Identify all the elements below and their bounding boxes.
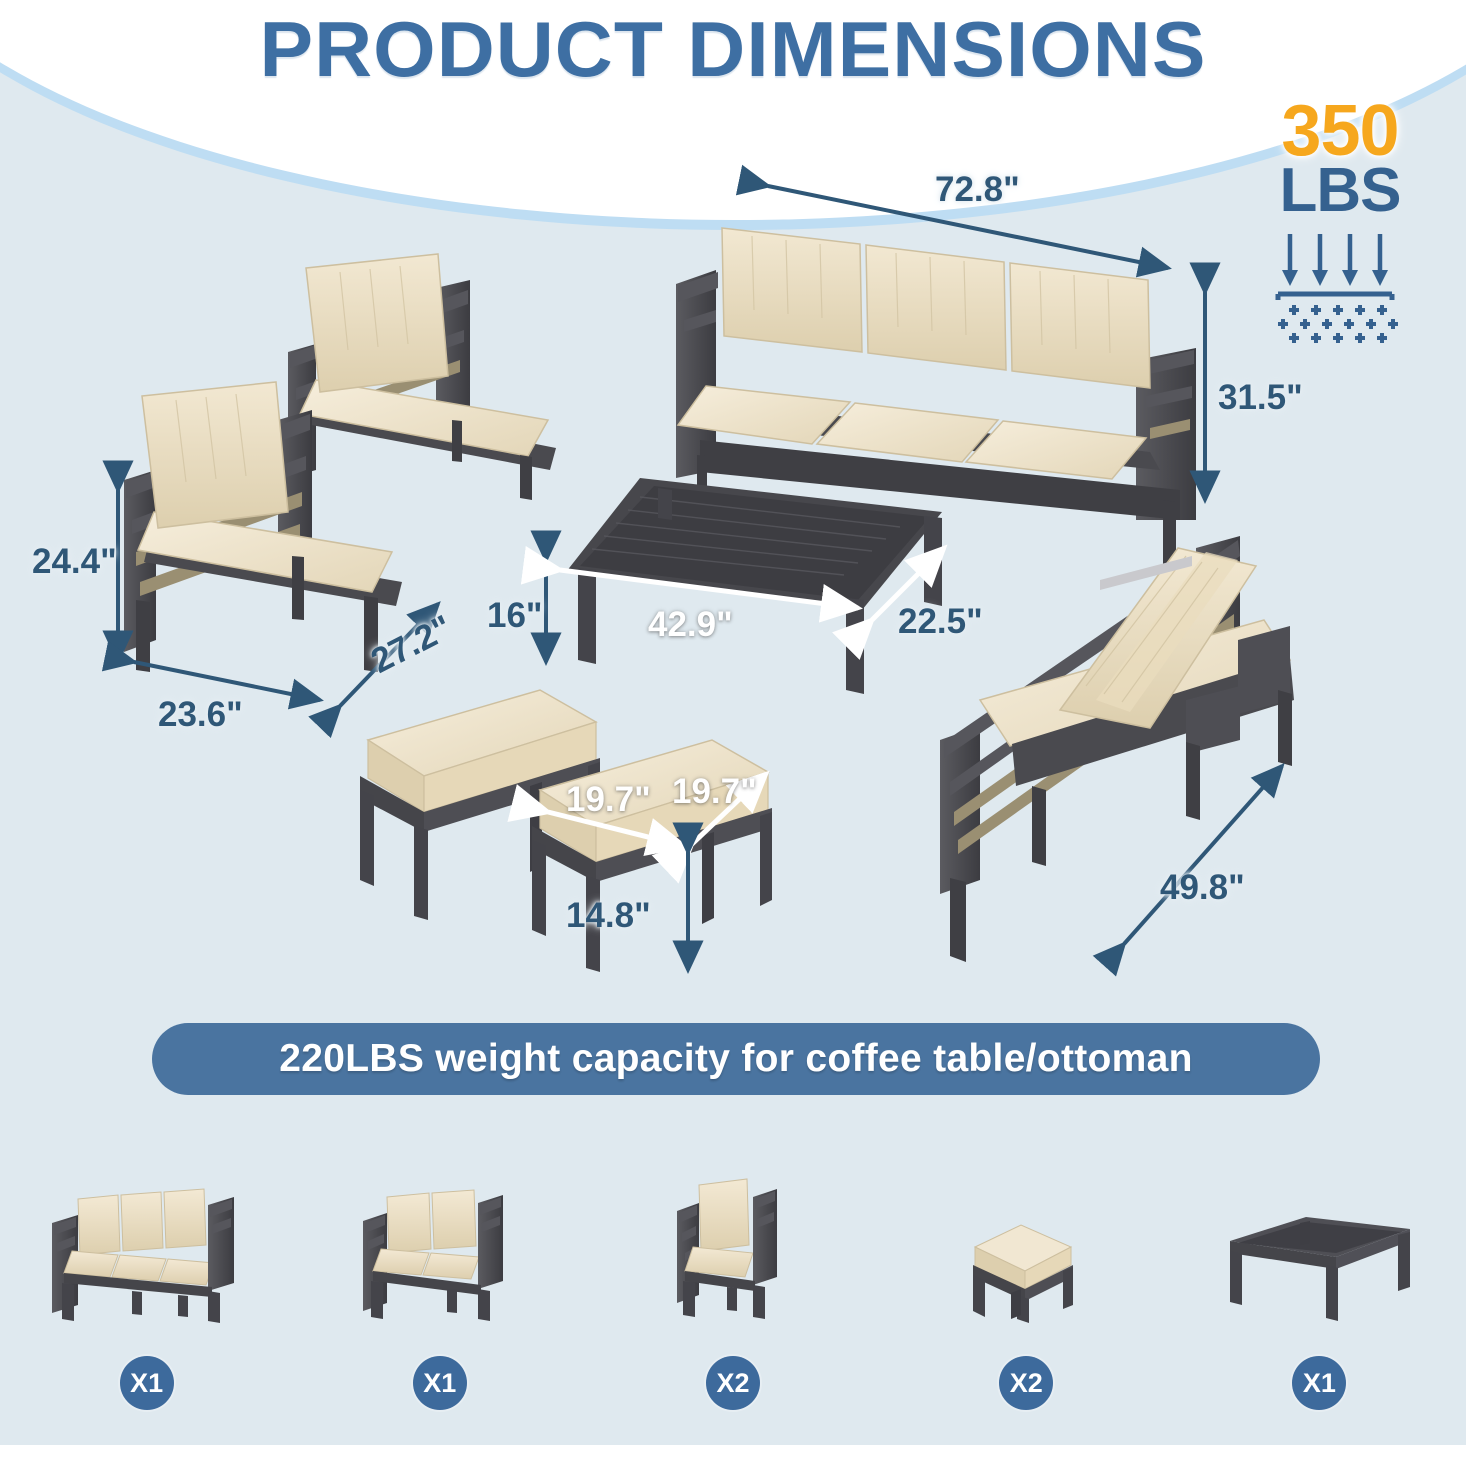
coffee-table-icon (1204, 1150, 1434, 1330)
parts-list-qty-coffee-table: X1 (1292, 1356, 1346, 1410)
dimension-label-loveseat-width: 49.8" (1160, 868, 1245, 908)
parts-list-qty-sofa: X1 (120, 1356, 174, 1410)
product-dimensions-infographic: PRODUCT DIMENSIONS 350 LBS (0, 0, 1466, 1466)
parts-list-item-armchair: X2 (586, 1150, 879, 1450)
dimension-label-table-width: 22.5" (898, 602, 983, 642)
dimension-label-ottoman-height: 14.8" (566, 896, 651, 936)
dimension-label-chair-height: 24.4" (32, 542, 117, 582)
banner-text: 220LBS weight capacity for coffee table/… (279, 1037, 1192, 1081)
dimension-label-sofa-width: 72.8" (935, 170, 1020, 210)
dimension-label-chair-width: 23.6" (158, 695, 243, 735)
parts-list-item-loveseat: X1 (293, 1150, 586, 1450)
parts-list-qty-armchair: X2 (706, 1356, 760, 1410)
dimension-label-table-height: 16" (487, 596, 543, 636)
page-title: PRODUCT DIMENSIONS (0, 4, 1466, 95)
dimension-label-ottoman-width: 19.7" (566, 780, 651, 820)
downward-load-arrows-icon (1245, 228, 1435, 348)
sofa-icon (22, 1150, 272, 1330)
parts-list-item-coffee-table: X1 (1173, 1150, 1466, 1450)
parts-list-item-sofa: X1 (0, 1150, 293, 1450)
parts-list-qty-ottoman: X2 (999, 1356, 1053, 1410)
dimension-label-table-length: 42.9" (648, 605, 733, 645)
parts-list-item-ottoman: X2 (880, 1150, 1173, 1450)
capacity-unit: LBS (1245, 160, 1435, 222)
armchair-icon (653, 1150, 813, 1330)
ottoman-icon (951, 1150, 1101, 1330)
weight-capacity-badge: 350 LBS (1245, 98, 1435, 348)
dimension-label-ottoman-depth: 19.7" (672, 772, 757, 812)
dimension-label-sofa-height: 31.5" (1218, 378, 1303, 418)
weight-capacity-banner: 220LBS weight capacity for coffee table/… (152, 1023, 1320, 1095)
parts-list-qty-loveseat: X1 (413, 1356, 467, 1410)
parts-list-strip: X1 (0, 1150, 1466, 1450)
loveseat-icon (335, 1150, 545, 1330)
capacity-value: 350 (1245, 98, 1435, 164)
